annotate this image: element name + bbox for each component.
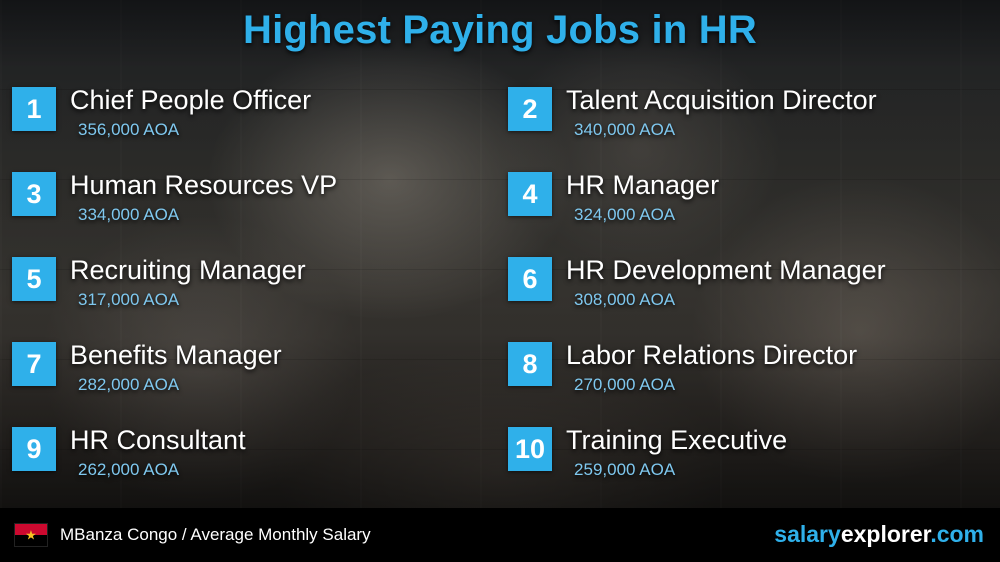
list-item: 7 Benefits Manager 282,000 AOA [12,339,492,423]
list-item-texts: Training Executive 259,000 AOA [566,424,787,482]
list-item-texts: Recruiting Manager 317,000 AOA [70,254,306,312]
footer-bar: ★ MBanza Congo / Average Monthly Salary … [0,508,1000,562]
infographic-canvas: Highest Paying Jobs in HR 1 Chief People… [0,0,1000,562]
rank-badge: 8 [508,342,552,386]
brand-domain: .com [930,521,984,547]
job-title: Human Resources VP [70,169,337,201]
job-salary: 308,000 AOA [574,288,886,312]
list-item: 5 Recruiting Manager 317,000 AOA [12,254,492,338]
page-title: Highest Paying Jobs in HR [0,8,1000,53]
list-item: 3 Human Resources VP 334,000 AOA [12,169,492,253]
rank-badge: 1 [12,87,56,131]
list-item: 4 HR Manager 324,000 AOA [508,169,988,253]
list-item-texts: Benefits Manager 282,000 AOA [70,339,282,397]
job-salary: 282,000 AOA [78,373,282,397]
list-item: 6 HR Development Manager 308,000 AOA [508,254,988,338]
list-item-texts: Labor Relations Director 270,000 AOA [566,339,857,397]
list-item-texts: HR Development Manager 308,000 AOA [566,254,886,312]
job-title: Recruiting Manager [70,254,306,286]
job-salary: 324,000 AOA [574,203,719,227]
job-title: Benefits Manager [70,339,282,371]
job-title: HR Consultant [70,424,246,456]
rank-badge: 10 [508,427,552,471]
rank-badge: 9 [12,427,56,471]
job-title: Training Executive [566,424,787,456]
rank-badge: 2 [508,87,552,131]
rank-badge: 6 [508,257,552,301]
brand-explorer: explorer [841,521,931,547]
list-item-texts: Human Resources VP 334,000 AOA [70,169,337,227]
job-title: HR Development Manager [566,254,886,286]
brand-salary: salary [774,521,841,547]
job-title: Labor Relations Director [566,339,857,371]
rank-badge: 3 [12,172,56,216]
site-brand[interactable]: salaryexplorer.com [774,521,984,548]
job-salary: 340,000 AOA [574,118,877,142]
angola-flag-icon: ★ [14,523,48,547]
list-item: 10 Training Executive 259,000 AOA [508,424,988,508]
list-item-texts: Talent Acquisition Director 340,000 AOA [566,84,877,142]
list-item-texts: Chief People Officer 356,000 AOA [70,84,311,142]
list-item: 9 HR Consultant 262,000 AOA [12,424,492,508]
job-title: HR Manager [566,169,719,201]
job-salary: 270,000 AOA [574,373,857,397]
job-title: Talent Acquisition Director [566,84,877,116]
rank-badge: 4 [508,172,552,216]
list-item: 8 Labor Relations Director 270,000 AOA [508,339,988,423]
job-salary: 334,000 AOA [78,203,337,227]
job-list: 1 Chief People Officer 356,000 AOA 3 Hum… [0,84,1000,504]
list-item: 2 Talent Acquisition Director 340,000 AO… [508,84,988,168]
list-item-texts: HR Consultant 262,000 AOA [70,424,246,482]
rank-badge: 7 [12,342,56,386]
job-salary: 317,000 AOA [78,288,306,312]
flag-emblem-icon: ★ [25,529,37,542]
job-title: Chief People Officer [70,84,311,116]
location-label: MBanza Congo / Average Monthly Salary [60,525,371,545]
list-item: 1 Chief People Officer 356,000 AOA [12,84,492,168]
list-item-texts: HR Manager 324,000 AOA [566,169,719,227]
rank-badge: 5 [12,257,56,301]
job-salary: 356,000 AOA [78,118,311,142]
job-salary: 262,000 AOA [78,458,246,482]
job-salary: 259,000 AOA [574,458,787,482]
